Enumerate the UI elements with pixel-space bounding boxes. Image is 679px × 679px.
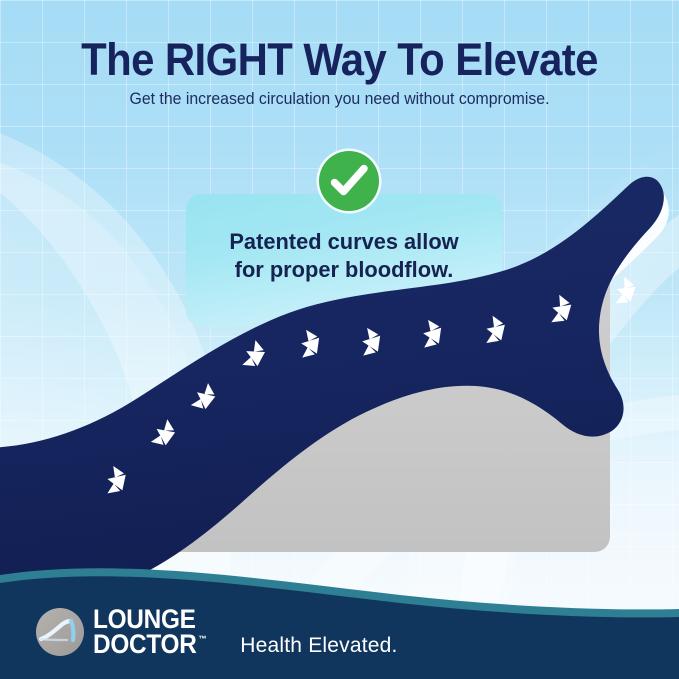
brand-line-2: DOCTOR <box>93 629 197 659</box>
brand-wordmark: LOUNGE DOCTOR™ <box>93 607 206 656</box>
brand-logo-block: LOUNGE DOCTOR™ Health Elevated. <box>34 603 398 661</box>
trademark-symbol: ™ <box>198 634 206 644</box>
green-check-circle-icon <box>319 151 379 211</box>
lounge-doctor-leg-circle-logo <box>34 606 86 658</box>
brand-line-2-row: DOCTOR™ <box>93 632 206 657</box>
page-title: The RIGHT Way To Elevate <box>24 36 655 83</box>
page-subtitle: Get the increased circulation you need w… <box>14 90 666 109</box>
promo-infographic: The RIGHT Way To Elevate Get the increas… <box>0 0 679 679</box>
callout-text: Patented curves allow for proper bloodfl… <box>191 228 498 285</box>
brand-tagline: Health Elevated. <box>240 634 397 661</box>
